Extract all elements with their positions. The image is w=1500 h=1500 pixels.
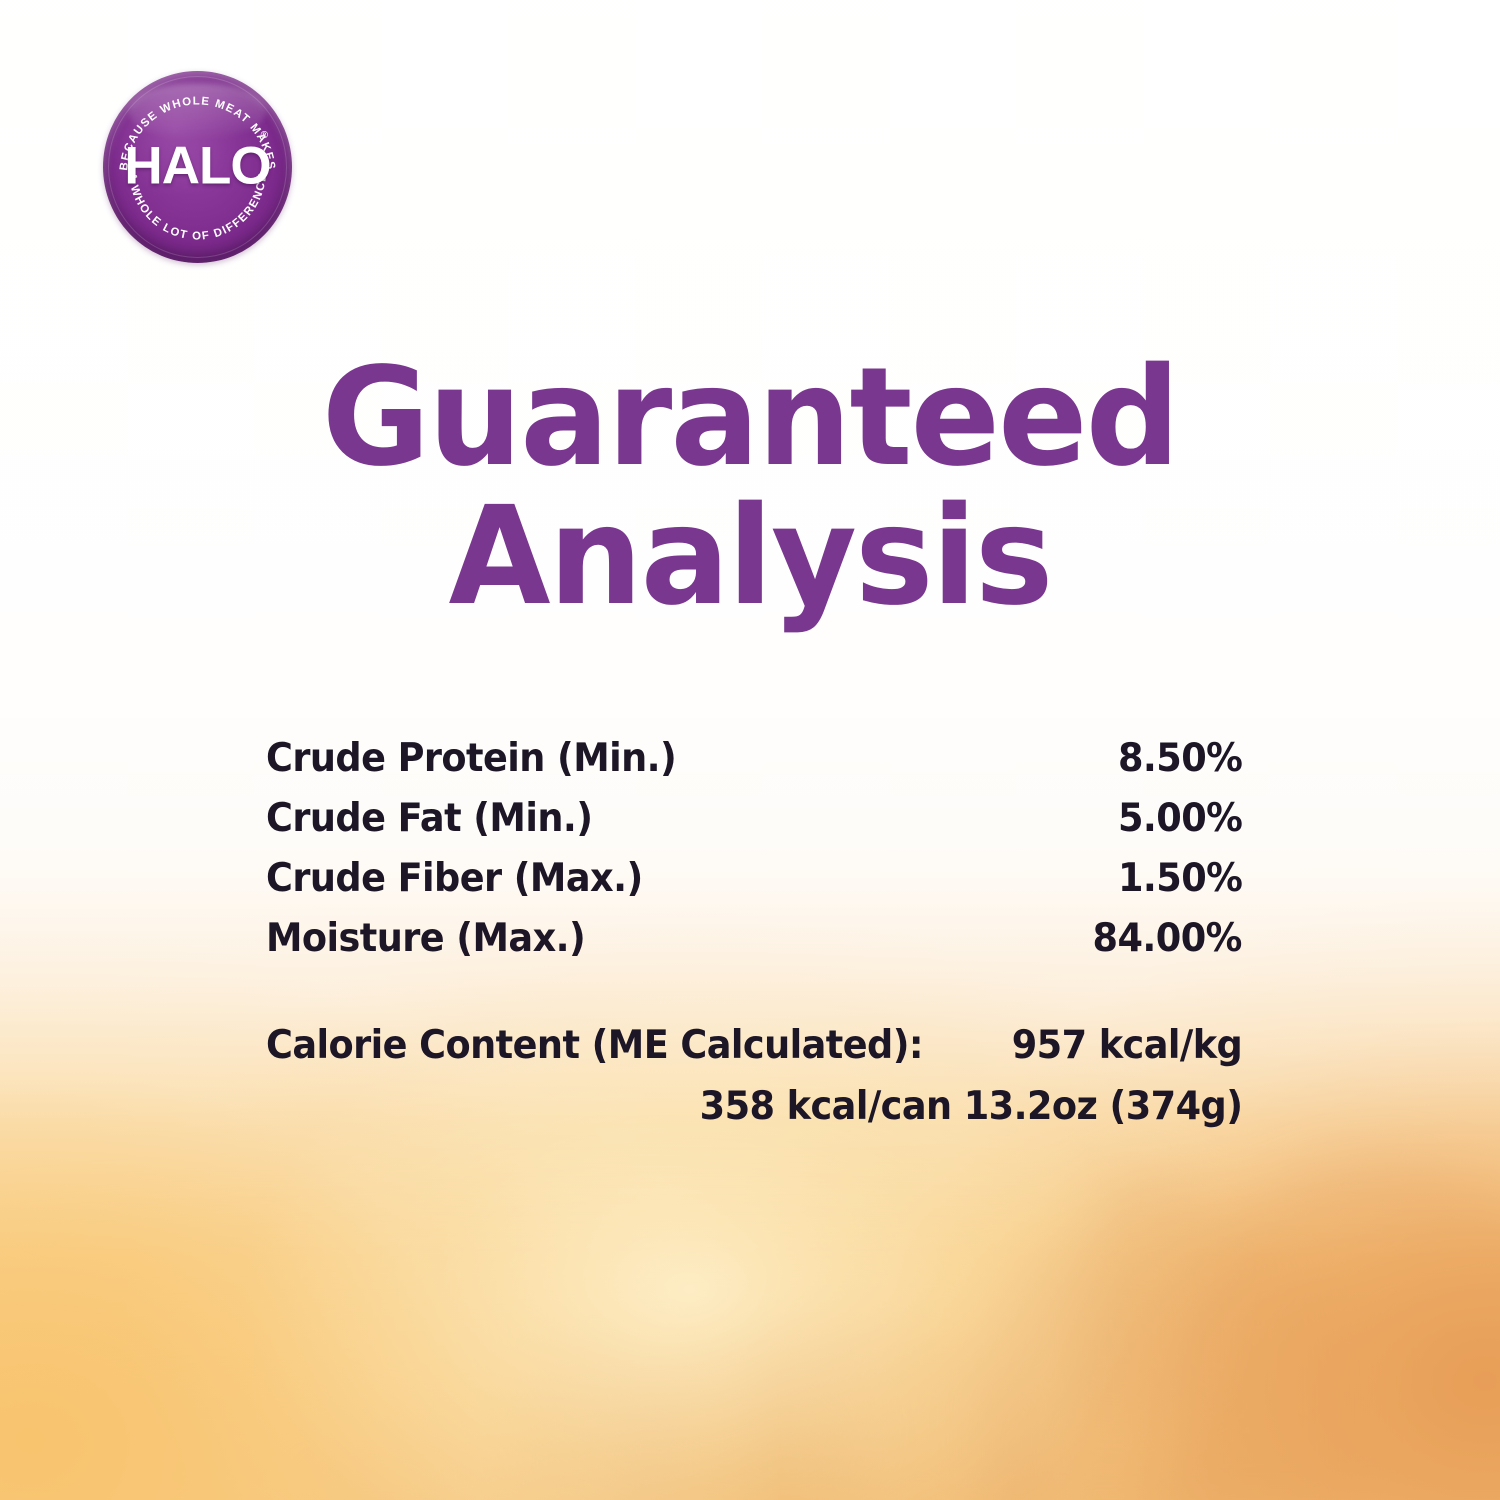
table-row: Crude Protein (Min.) 8.50% bbox=[266, 739, 1242, 799]
calorie-content-per-kg: 957 kcal/kg bbox=[1011, 1026, 1242, 1065]
calorie-content-label: Calorie Content (ME Calculated): bbox=[266, 1026, 923, 1065]
calorie-content-block: Calorie Content (ME Calculated): 957 kca… bbox=[266, 1026, 1242, 1126]
table-row: Crude Fiber (Max.) 1.50% bbox=[266, 859, 1242, 919]
nutrient-label: Moisture (Max.) bbox=[266, 919, 585, 958]
page-title-line-2: Analysis bbox=[23, 491, 1478, 624]
halo-logo: BECAUSE WHOLE MEAT MAKES A WHOLE LOT OF … bbox=[103, 71, 292, 263]
registered-trademark-icon: ® bbox=[261, 131, 268, 141]
table-row: Moisture (Max.) 84.00% bbox=[266, 919, 1242, 979]
nutrient-value: 8.50% bbox=[1118, 739, 1242, 778]
nutrient-label: Crude Protein (Min.) bbox=[266, 739, 676, 778]
page-title: Guaranteed Analysis bbox=[23, 352, 1478, 625]
table-row: Crude Fat (Min.) 5.00% bbox=[266, 799, 1242, 859]
nutrient-label: Crude Fiber (Max.) bbox=[266, 859, 643, 898]
calorie-content-row: Calorie Content (ME Calculated): 957 kca… bbox=[266, 1026, 1242, 1065]
nutrient-value: 5.00% bbox=[1118, 799, 1242, 838]
calorie-content-second-row: 358 kcal/can 13.2oz (374g) bbox=[266, 1087, 1242, 1126]
product-guaranteed-analysis-panel: BECAUSE WHOLE MEAT MAKES A WHOLE LOT OF … bbox=[0, 0, 1500, 1500]
guaranteed-analysis-table: Crude Protein (Min.) 8.50% Crude Fat (Mi… bbox=[266, 739, 1242, 979]
nutrient-value: 84.00% bbox=[1093, 919, 1242, 958]
nutrient-value: 1.50% bbox=[1118, 859, 1242, 898]
nutrient-label: Crude Fat (Min.) bbox=[266, 799, 592, 838]
logo-wordmark: HALO bbox=[103, 139, 292, 192]
page-title-line-1: Guaranteed bbox=[23, 352, 1478, 485]
calorie-content-per-can: 358 kcal/can 13.2oz (374g) bbox=[699, 1087, 1242, 1126]
